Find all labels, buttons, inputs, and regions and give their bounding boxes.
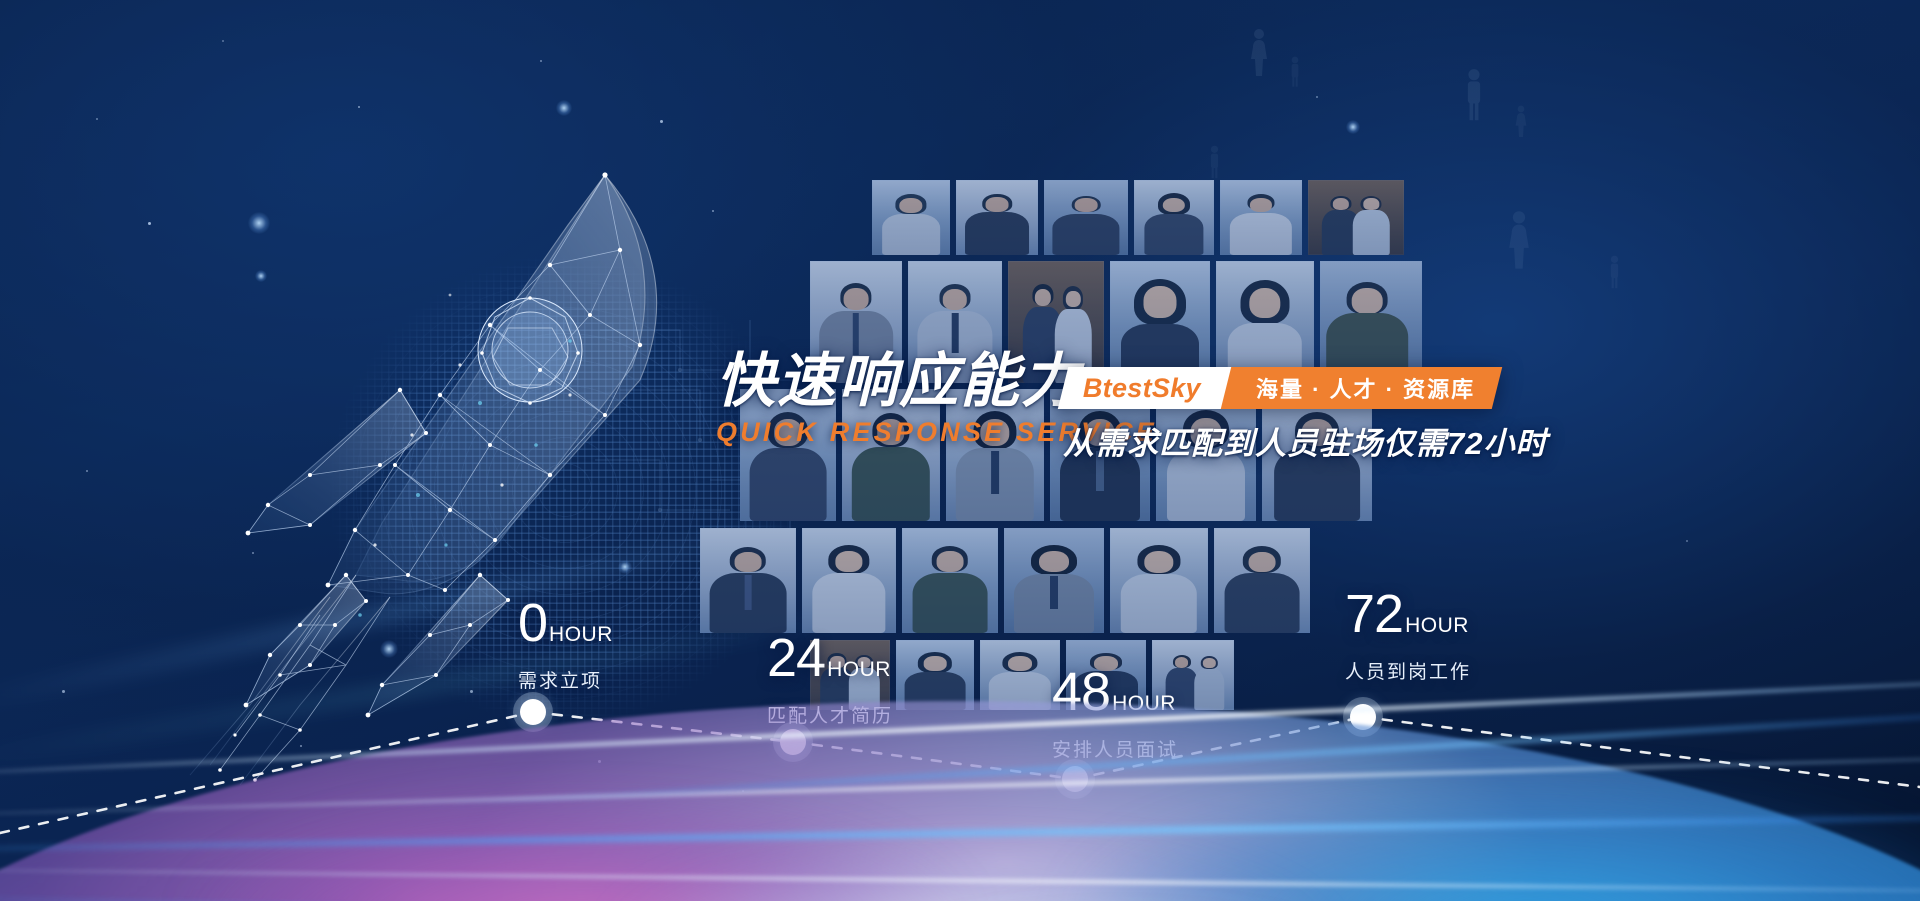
- portrait-tile: [1044, 180, 1128, 255]
- portrait-tile: [1220, 180, 1302, 255]
- mosaic-row: [872, 180, 1404, 255]
- brand-badge-right: 海量 · 人才 · 资源库: [1221, 367, 1503, 409]
- hero-subtitle: 从需求匹配到人员驻场仅需72小时: [1063, 418, 1547, 463]
- portrait-tile: [872, 180, 950, 255]
- portrait-tile: [1308, 180, 1404, 255]
- brand-badge-left: BtestSky: [1058, 367, 1232, 409]
- portrait-tile: [1134, 180, 1214, 255]
- brand-name: BtestSky: [1083, 373, 1201, 404]
- page-title: 快速响应能力: [716, 352, 1082, 411]
- hero-banner: 快速响应能力 QUICK RESPONSE SERVICE BtestSky 海…: [0, 0, 1920, 901]
- brand-tagline: 海量 · 人才 · 资源库: [1256, 372, 1475, 404]
- person-silhouette-icon: [1464, 68, 1484, 120]
- bottom-aurora: [0, 601, 1920, 901]
- brand-badge: BtestSky 海量 · 人才 · 资源库: [1063, 367, 1497, 409]
- person-silhouette-icon: [1289, 56, 1301, 88]
- person-silhouette-icon: [1208, 145, 1221, 179]
- person-silhouette-icon: [1250, 28, 1268, 76]
- person-silhouette-icon: [1515, 105, 1527, 137]
- portrait-tile: [956, 180, 1038, 255]
